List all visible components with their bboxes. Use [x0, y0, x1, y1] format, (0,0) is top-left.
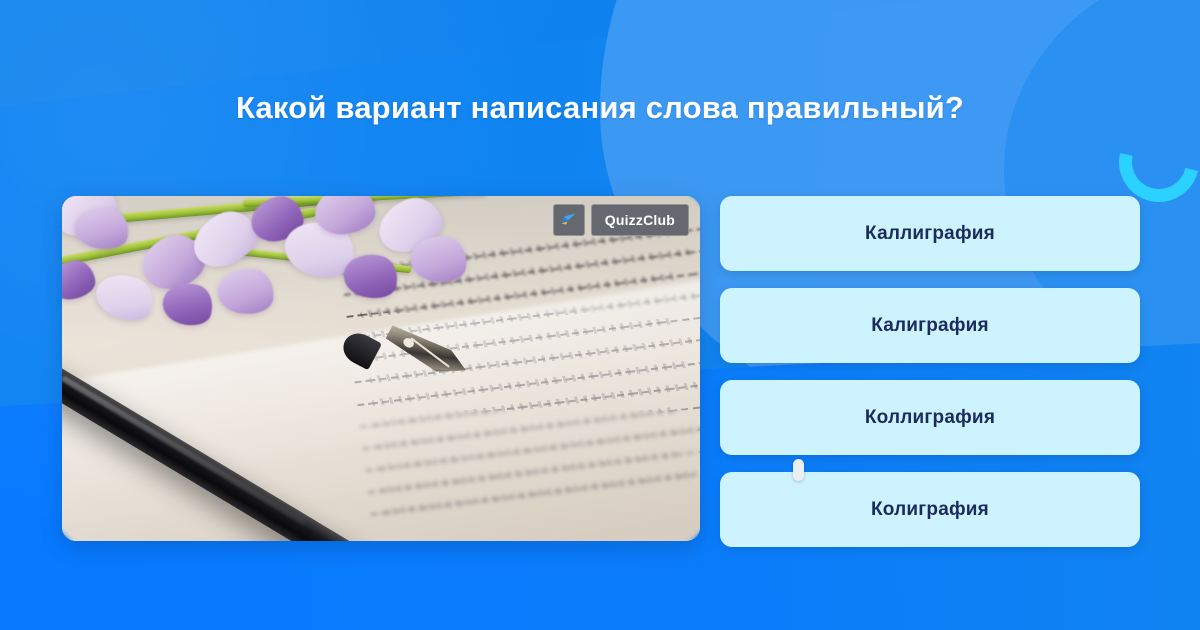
answer-option-2[interactable]: Калиграфия	[720, 288, 1140, 363]
answer-option-1[interactable]: Каллиграфия	[720, 196, 1140, 271]
answer-option-3[interactable]: Коллиграфия	[720, 380, 1140, 455]
graduation-cap-icon	[553, 204, 585, 236]
answer-option-4[interactable]: Колиграфия	[720, 472, 1140, 547]
answer-option-3-label: Коллиграфия	[865, 407, 995, 429]
lavender-flowers	[62, 196, 470, 362]
scroll-handle[interactable]	[793, 459, 804, 481]
question-title: Какой вариант написания слова правильный…	[0, 89, 1200, 126]
watermark: QuizzClub	[553, 204, 689, 236]
quiz-card-canvas: Какой вариант написания слова правильный…	[0, 0, 1200, 630]
answer-option-2-label: Калиграфия	[871, 315, 989, 337]
answer-option-1-label: Каллиграфия	[865, 223, 995, 245]
answer-option-4-label: Колиграфия	[871, 499, 989, 521]
answer-options-list: Каллиграфия Калиграфия Коллиграфия Колиг…	[720, 196, 1140, 547]
question-image	[62, 196, 700, 541]
question-image-card: QuizzClub	[62, 196, 700, 541]
watermark-brand: QuizzClub	[591, 204, 689, 236]
